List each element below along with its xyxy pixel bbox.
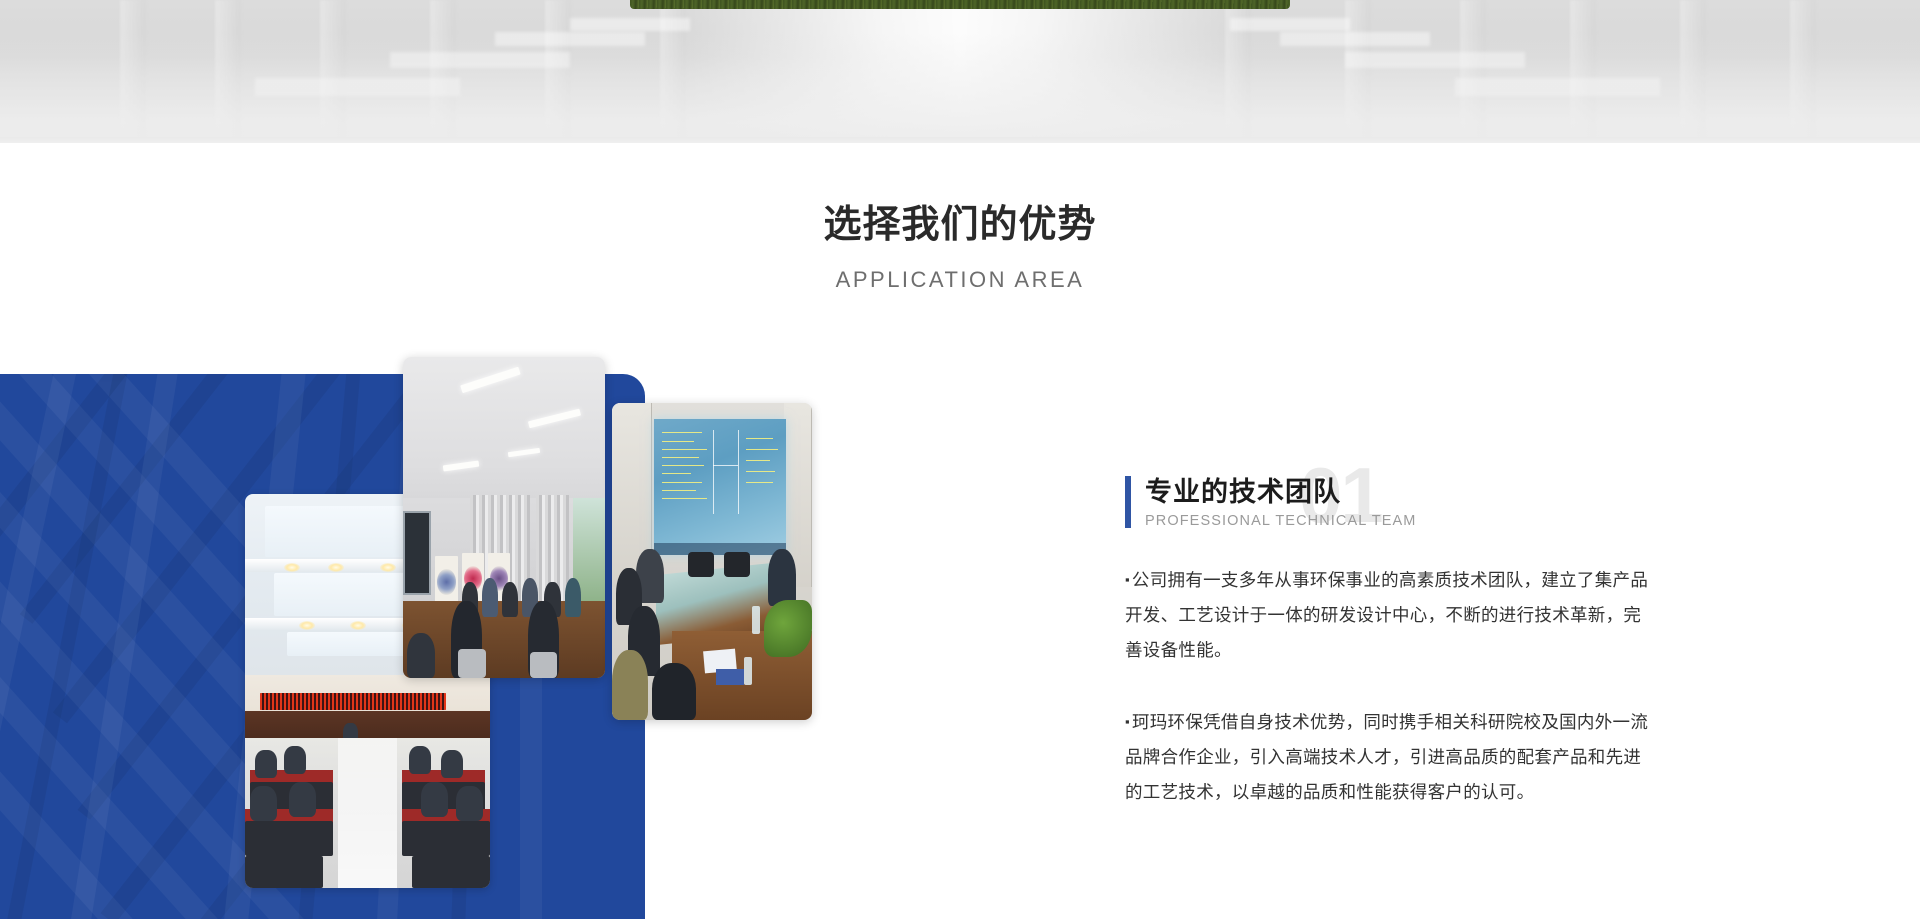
section-subtitle: APPLICATION AREA <box>0 267 1920 293</box>
feature-paragraph-2: ▪珂玛环保凭借自身技术优势，同时携手相关科研院校及国内外一流品牌合作企业，引入高… <box>1125 704 1655 810</box>
feature-content: 01 专业的技术团队 PROFESSIONAL TECHNICAL TEAM ▪… <box>1125 470 1655 810</box>
feature-title: 专业的技术团队 <box>1145 470 1341 509</box>
projector-screen <box>654 419 786 555</box>
photo-technical-review[interactable] <box>612 403 812 720</box>
grass-strip <box>630 0 1290 9</box>
section-title: 选择我们的优势 <box>0 203 1920 249</box>
page-root: 选择我们的优势 APPLICATION AREA <box>0 0 1920 919</box>
feature-paragraph-1: ▪公司拥有一支多年从事环保事业的高素质技术团队，建立了集产品开发、工艺设计于一体… <box>1125 562 1655 668</box>
feature-subtitle: PROFESSIONAL TECHNICAL TEAM <box>1145 513 1416 529</box>
feature-paragraph-1-text: 公司拥有一支多年从事环保事业的高素质技术团队，建立了集产品开发、工艺设计于一体的… <box>1125 570 1648 660</box>
led-banner <box>260 693 446 710</box>
bullet-icon: ▪ <box>1125 714 1130 729</box>
feature-header: 01 专业的技术团队 PROFESSIONAL TECHNICAL TEAM <box>1125 470 1655 542</box>
hero-banner <box>0 0 1920 143</box>
accent-bar <box>1125 476 1131 528</box>
bullet-icon: ▪ <box>1125 572 1130 587</box>
section-header: 选择我们的优势 APPLICATION AREA <box>0 143 1920 293</box>
photo-meeting-room[interactable] <box>403 357 605 678</box>
banner-floor <box>0 33 1920 143</box>
feature-paragraph-2-text: 珂玛环保凭借自身技术优势，同时携手相关科研院校及国内外一流品牌合作企业，引入高端… <box>1125 712 1648 802</box>
